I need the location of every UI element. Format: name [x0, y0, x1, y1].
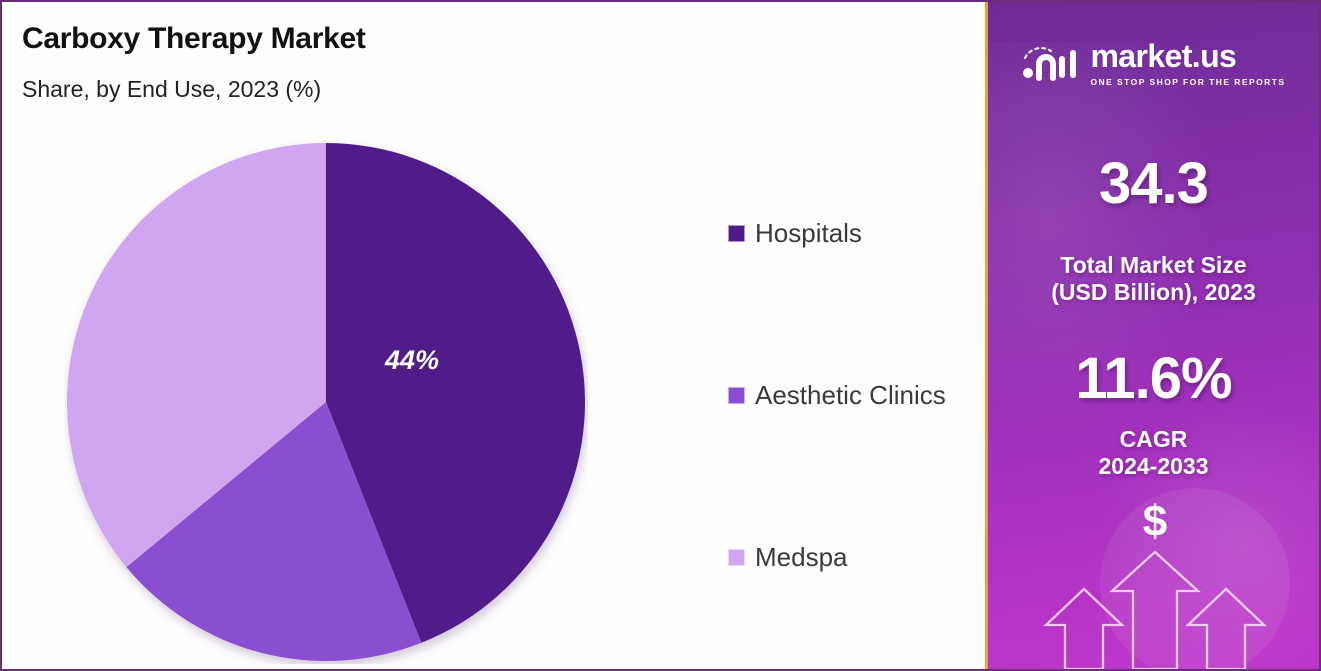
growth-arrows-icon: $: [988, 494, 1319, 669]
pie-chart: 44%: [64, 140, 588, 664]
legend-item-label: Hospitals: [755, 218, 862, 249]
stats-side-panel: market.us ONE STOP SHOP FOR THE REPORTS …: [985, 2, 1319, 669]
legend-swatch-icon: [728, 225, 745, 242]
dollar-symbol: $: [1143, 497, 1167, 546]
caption-line: (USD Billion), 2023: [1051, 279, 1255, 305]
total-market-size-value: 34.3: [988, 150, 1319, 217]
infographic-frame: Carboxy Therapy Market Share, by End Use…: [0, 0, 1321, 671]
legend-item-label: Medspa: [755, 542, 848, 573]
caption-line: CAGR: [1120, 426, 1188, 452]
legend-item-medspa[interactable]: Medspa: [728, 476, 978, 638]
cagr-value: 11.6%: [988, 345, 1319, 412]
cagr-caption: CAGR 2024-2033: [988, 426, 1319, 480]
brand-name: market.us: [1090, 40, 1236, 72]
page-title: Carboxy Therapy Market: [22, 22, 366, 56]
total-market-size-caption: Total Market Size (USD Billion), 2023: [988, 252, 1319, 306]
caption-line: 2024-2033: [1099, 453, 1209, 479]
legend-item-hospitals[interactable]: Hospitals: [728, 152, 978, 314]
pie-slice-label-hospitals: 44%: [384, 345, 439, 375]
pie-chart-svg: 44%: [64, 140, 588, 664]
brand-logo: market.us ONE STOP SHOP FOR THE REPORTS: [988, 40, 1319, 87]
legend-swatch-icon: [728, 387, 745, 404]
pie-slices: [67, 143, 585, 661]
chart-area: Carboxy Therapy Market Share, by End Use…: [2, 2, 989, 669]
chart-legend: Hospitals Aesthetic Clinics Medspa: [728, 152, 978, 638]
market-us-logo-icon: [1021, 44, 1079, 84]
legend-swatch-icon: [728, 549, 745, 566]
legend-item-label: Aesthetic Clinics: [755, 380, 946, 411]
brand-tagline: ONE STOP SHOP FOR THE REPORTS: [1090, 77, 1285, 87]
caption-line: Total Market Size: [1060, 252, 1246, 278]
page-subtitle: Share, by End Use, 2023 (%): [22, 76, 321, 103]
legend-item-aesthetic-clinics[interactable]: Aesthetic Clinics: [728, 314, 978, 476]
